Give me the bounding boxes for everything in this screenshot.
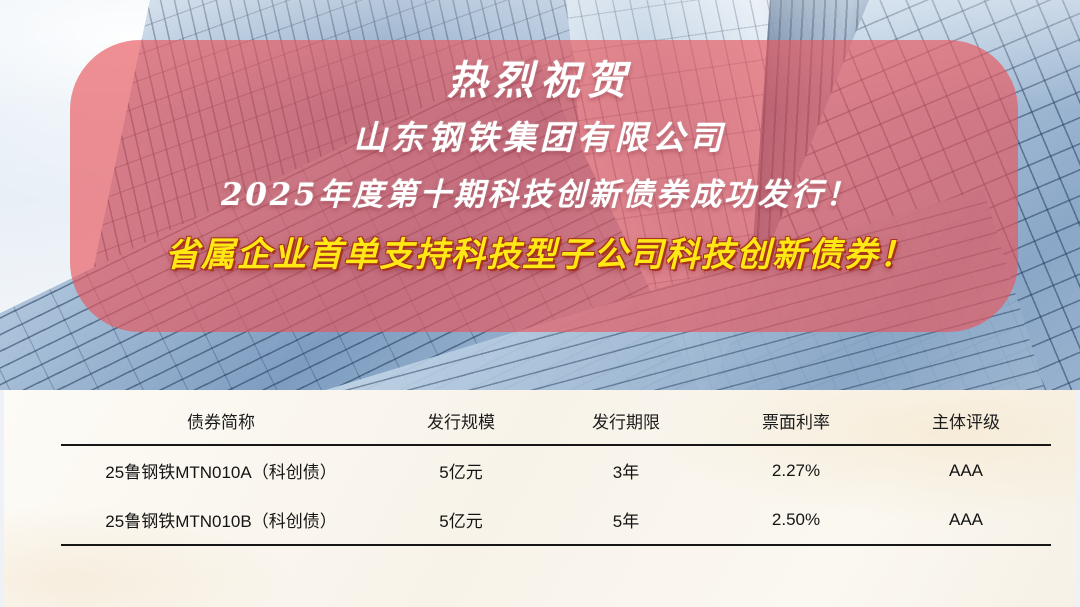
column-header-term: 发行期限 — [541, 398, 711, 445]
cell-scale: 5亿元 — [381, 495, 541, 545]
column-header-coupon-rate: 票面利率 — [711, 398, 881, 445]
cell-bond-name: 25鲁钢铁MTN010A（科创债） — [61, 445, 381, 495]
red-banner-overlay — [70, 40, 1018, 332]
column-header-rating: 主体评级 — [881, 398, 1051, 445]
column-header-bond-name: 债券简称 — [61, 398, 381, 445]
cell-scale: 5亿元 — [381, 445, 541, 495]
congratulation-poster: 热烈祝贺 山东钢铁集团有限公司 2025年度第十期科技创新债券成功发行！ 省属企… — [0, 0, 1080, 607]
cell-coupon-rate: 2.50% — [711, 495, 881, 545]
bond-details-table: 债券简称 发行规模 发行期限 票面利率 主体评级 25鲁钢铁MTN010A（科创… — [61, 398, 1051, 546]
bond-details-panel: 债券简称 发行规模 发行期限 票面利率 主体评级 25鲁钢铁MTN010A（科创… — [0, 390, 1080, 607]
cell-coupon-rate: 2.27% — [711, 445, 881, 495]
table-row: 25鲁钢铁MTN010B（科创债） 5亿元 5年 2.50% AAA — [61, 495, 1051, 545]
cell-rating: AAA — [881, 495, 1051, 545]
cell-rating: AAA — [881, 445, 1051, 495]
column-header-scale: 发行规模 — [381, 398, 541, 445]
cell-term: 5年 — [541, 495, 711, 545]
cell-term: 3年 — [541, 445, 711, 495]
cell-bond-name: 25鲁钢铁MTN010B（科创债） — [61, 495, 381, 545]
table-header-row: 债券简称 发行规模 发行期限 票面利率 主体评级 — [61, 398, 1051, 445]
table-row: 25鲁钢铁MTN010A（科创债） 5亿元 3年 2.27% AAA — [61, 445, 1051, 495]
